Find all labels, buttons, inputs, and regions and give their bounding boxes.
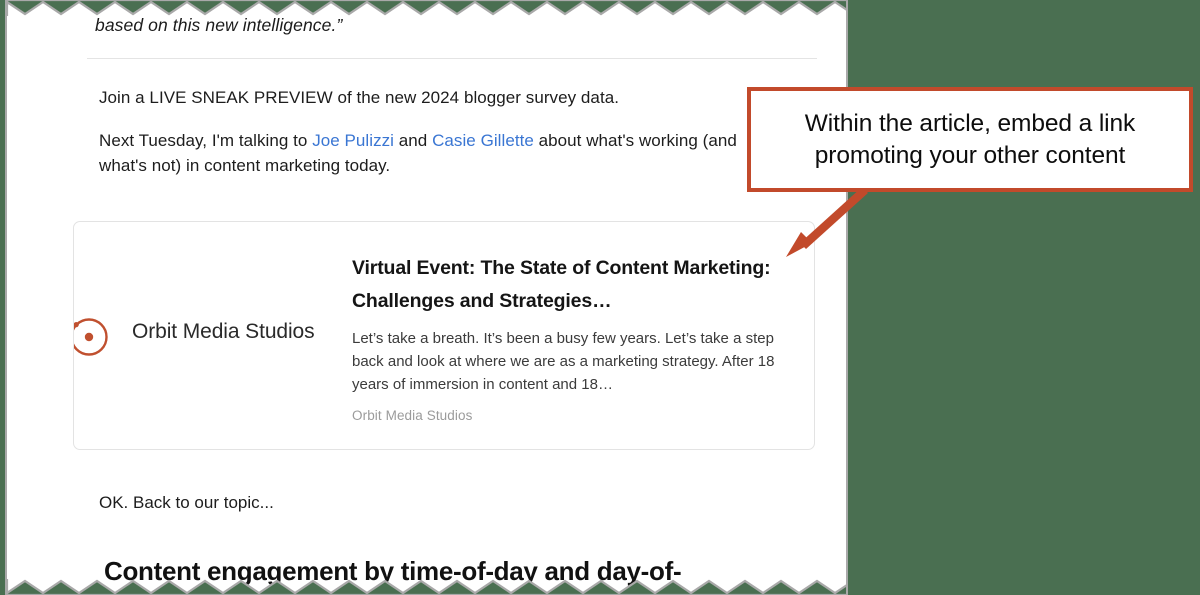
article-panel: based on this new intelligence.” Join a … (5, 0, 848, 595)
page-background: based on this new intelligence.” Join a … (0, 0, 1200, 595)
card-title[interactable]: Virtual Event: The State of Content Mark… (352, 252, 802, 318)
paragraph-guests: Next Tuesday, I'm talking to Joe Pulizzi… (99, 128, 739, 178)
card-description: Let’s take a breath. It’s been a busy fe… (352, 327, 794, 396)
link-casie-gillette[interactable]: Casie Gillette (432, 131, 534, 150)
paragraph-guests-prefix: Next Tuesday, I'm talking to (99, 131, 312, 150)
paragraph-live-preview: Join a LIVE SNEAK PREVIEW of the new 202… (99, 85, 799, 110)
quote-tail-text: based on this new intelligence.” (95, 15, 342, 36)
link-preview-card[interactable]: Orbit Media Studios Virtual Event: The S… (73, 221, 815, 450)
outro-text: OK. Back to our topic... (99, 493, 274, 513)
section-heading: Content engagement by time-of-day and da… (104, 556, 681, 587)
annotation-callout-text: Within the article, embed a link promoti… (751, 108, 1189, 172)
card-source-label: Orbit Media Studios (352, 408, 802, 423)
link-joe-pulizzi[interactable]: Joe Pulizzi (312, 131, 394, 150)
article-content: based on this new intelligence.” Join a … (7, 0, 848, 595)
orbit-ring-icon (73, 316, 110, 358)
card-brand-block: Orbit Media Studios (74, 314, 352, 360)
paragraph-guests-conjunction: and (394, 131, 432, 150)
card-brand-name: Orbit Media Studios (132, 320, 315, 344)
card-body: Virtual Event: The State of Content Mark… (352, 252, 802, 423)
annotation-callout: Within the article, embed a link promoti… (747, 87, 1193, 192)
content-divider (87, 58, 817, 59)
